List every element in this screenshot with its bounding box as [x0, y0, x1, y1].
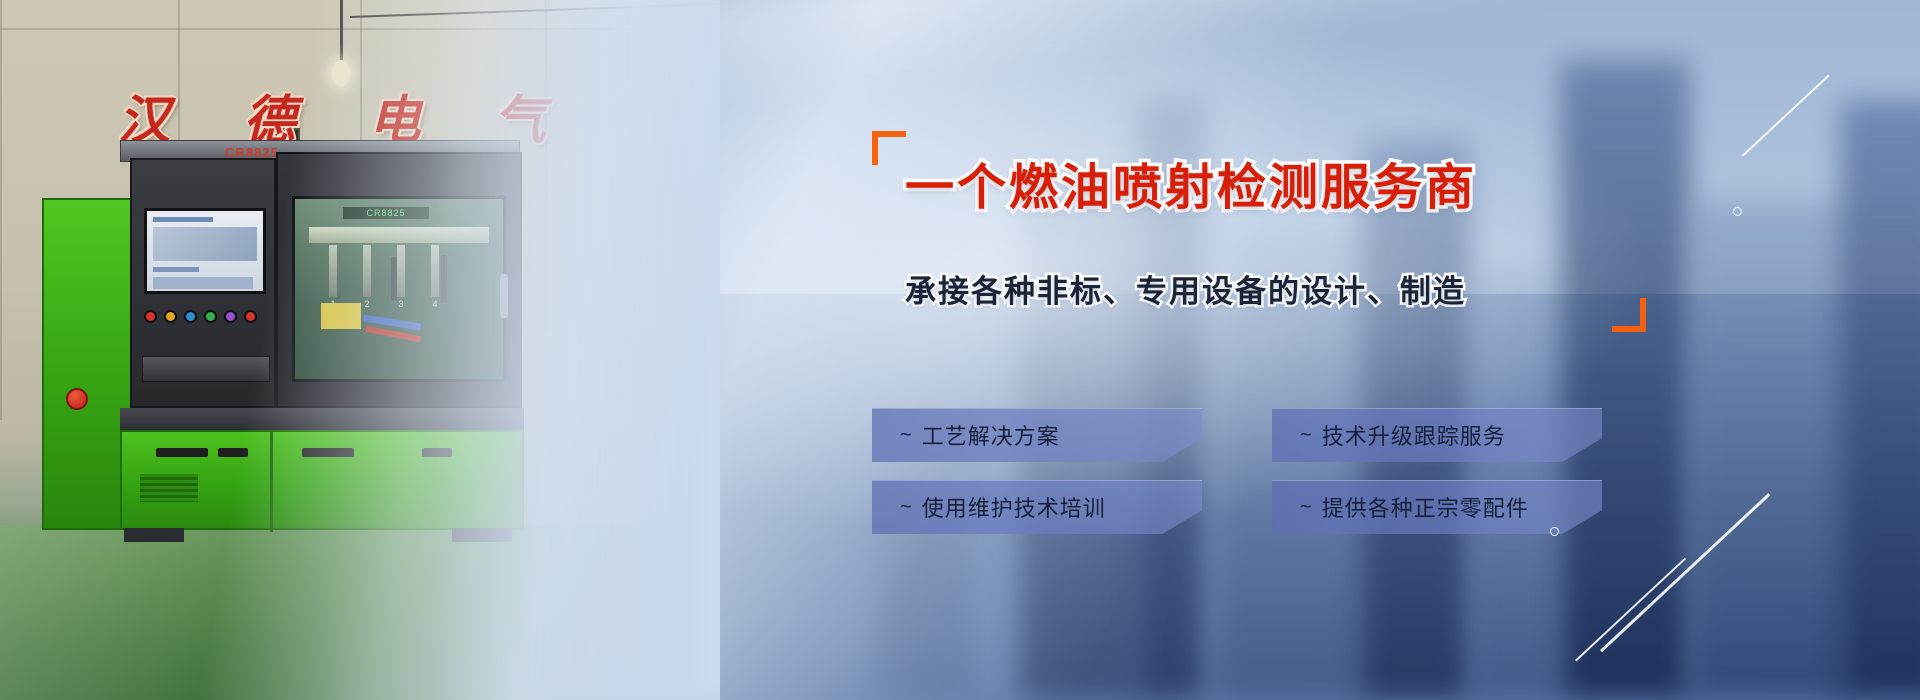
feature-tag[interactable]: ~ 使用维护技术培训	[872, 480, 1202, 534]
tag-label: 工艺解决方案	[922, 419, 1060, 451]
tag-label: 使用维护技术培训	[922, 491, 1106, 523]
tag-label: 提供各种正宗零配件	[1322, 491, 1529, 523]
corner-bracket-top-left-icon	[872, 131, 906, 165]
feature-tag[interactable]: ~ 技术升级跟踪服务	[1272, 408, 1602, 462]
decor-circle	[1550, 527, 1559, 536]
banner-content: 一个燃油喷射检测服务商 承接各种非标、专用设备的设计、制造 ~ 工艺解决方案 ~…	[0, 0, 1920, 700]
tag-marker: ~	[1300, 496, 1313, 519]
tag-marker: ~	[900, 424, 913, 447]
decor-circle	[1733, 207, 1742, 216]
banner-root: 汉 德 电 气 CR8825	[0, 0, 1920, 700]
feature-tag[interactable]: ~ 提供各种正宗零配件	[1272, 480, 1602, 534]
page-subtitle: 承接各种非标、专用设备的设计、制造	[905, 266, 1466, 311]
decor-diagonal-line	[1742, 75, 1830, 157]
corner-bracket-bottom-right-icon	[1612, 298, 1646, 332]
feature-tag[interactable]: ~ 工艺解决方案	[872, 408, 1202, 462]
page-title: 一个燃油喷射检测服务商	[905, 148, 1477, 219]
tag-marker: ~	[900, 496, 913, 519]
decor-diagonal-line	[1575, 558, 1686, 662]
tag-label: 技术升级跟踪服务	[1322, 419, 1506, 451]
tag-marker: ~	[1300, 424, 1313, 447]
feature-tag-list: ~ 工艺解决方案 ~ 技术升级跟踪服务 ~ 使用维护技术培训 ~ 提供各种正宗零…	[872, 408, 1602, 534]
decor-diagonal-line	[1600, 493, 1770, 652]
